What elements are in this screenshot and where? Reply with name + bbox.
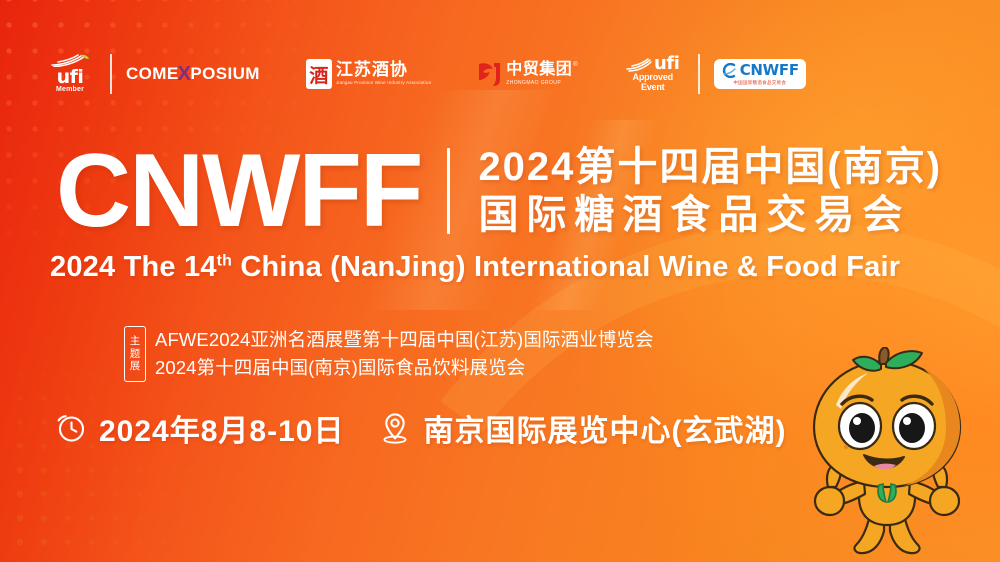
ufi-wordmark: ufi xyxy=(57,68,84,86)
theme-line-1: AFWE2024亚洲名酒展暨第十四届中国(江苏)国际酒业博览会 xyxy=(155,326,654,354)
event-date-text: 2024年8月8-10日 xyxy=(99,406,344,450)
ufi-approved-event-logo: ufi Approved Event xyxy=(622,50,684,98)
registered-mark: ® xyxy=(573,62,577,68)
theme-badge-char-2: 题 xyxy=(130,348,141,360)
theme-badge-char-1: 主 xyxy=(130,335,141,347)
chinese-title-line1: 2024第十四届中国(南京) xyxy=(478,143,942,192)
comexposium-logo: COME X POSIUM xyxy=(126,50,260,98)
english-subtitle-post: China (NanJing) International Wine & Foo… xyxy=(232,251,900,283)
cnwff-badge-subtitle: 中国国际糖酒食品交易会 xyxy=(733,80,786,86)
comexposium-x: X xyxy=(178,63,192,86)
comexposium-part1: COME xyxy=(126,64,179,84)
event-venue-text: 南京国际展览中心(玄武湖) xyxy=(423,406,786,450)
orange-fruit-mascot xyxy=(784,347,994,562)
clock-icon xyxy=(56,413,86,443)
cnwff-swoosh-icon xyxy=(721,63,737,78)
event-venue: 南京国际展览中心(玄武湖) xyxy=(380,406,786,450)
logo-divider-1 xyxy=(110,54,112,94)
cnwff-badge-logo: CNWFF 中国国际糖酒食品交易会 xyxy=(714,50,806,98)
event-meta-row: 2024年8月8-10日 南京国际展览中心(玄武湖) xyxy=(56,406,786,450)
event-date: 2024年8月8-10日 xyxy=(56,406,344,450)
english-subtitle: 2024 The 14th China (NanJing) Internatio… xyxy=(50,251,900,284)
page-title-acronym: CNWFF xyxy=(56,142,421,241)
zhongmao-group-logo: 中贸集团 ® ZHONGMAO GROUP xyxy=(477,50,577,98)
comexposium-part2: POSIUM xyxy=(190,64,259,84)
jiangsu-cn-name: 江苏酒协 xyxy=(336,61,431,78)
jiangsu-seal-icon: 酒 xyxy=(306,59,332,89)
logo-spacer-1 xyxy=(274,54,292,94)
zhongmao-dragon-icon xyxy=(477,60,503,88)
theme-exhibition-lines: AFWE2024亚洲名酒展暨第十四届中国(江苏)国际酒业博览会 2024第十四届… xyxy=(155,326,654,382)
main-title-row: CNWFF 2024第十四届中国(南京) 国际糖酒食品交易会 xyxy=(56,142,942,241)
cnwff-badge-text: CNWFF xyxy=(740,63,799,78)
logo-divider-2 xyxy=(698,54,700,94)
theme-line-2: 2024第十四届中国(南京)国际食品饮料展览会 xyxy=(155,354,654,382)
logo-spacer-3 xyxy=(592,54,608,94)
dot-pattern-bottom-left xyxy=(0,362,290,562)
theme-badge-char-3: 展 xyxy=(130,360,141,372)
english-subtitle-pre: 2024 The 14 xyxy=(50,251,217,283)
event-banner: ufi Member COME X POSIUM 酒 江苏酒协 Jiangsu … xyxy=(0,0,1000,562)
theme-exhibition-badge: 主 题 展 xyxy=(124,326,146,382)
theme-exhibitions: 主 题 展 AFWE2024亚洲名酒展暨第十四届中国(江苏)国际酒业博览会 20… xyxy=(124,326,654,382)
ufi-approved-wordmark: ufi xyxy=(654,56,679,72)
jiangsu-wine-association-logo: 酒 江苏酒协 Jiangsu Province Wine Industry As… xyxy=(306,50,431,98)
chinese-title-line2: 国际糖酒食品交易会 xyxy=(478,191,942,240)
zhongmao-cn-name: 中贸集团 xyxy=(506,62,572,78)
ufi-member-label: Member xyxy=(56,86,84,94)
location-pin-icon xyxy=(380,412,410,444)
ufi-approved-line1: Approved xyxy=(633,72,673,82)
title-divider xyxy=(447,148,450,234)
english-subtitle-sup: th xyxy=(217,252,232,269)
ufi-member-logo: ufi Member xyxy=(44,50,96,98)
zhongmao-en-name: ZHONGMAO GROUP xyxy=(506,80,577,86)
chinese-title: 2024第十四届中国(南京) 国际糖酒食品交易会 xyxy=(478,143,942,241)
sponsor-logo-bar: ufi Member COME X POSIUM 酒 江苏酒协 Jiangsu … xyxy=(44,50,806,98)
logo-spacer-2 xyxy=(445,54,463,94)
ufi-approved-line2: Event xyxy=(641,82,665,92)
jiangsu-en-name: Jiangsu Province Wine Industry Associati… xyxy=(336,80,431,86)
ufi-approved-swoosh-icon xyxy=(626,58,652,72)
